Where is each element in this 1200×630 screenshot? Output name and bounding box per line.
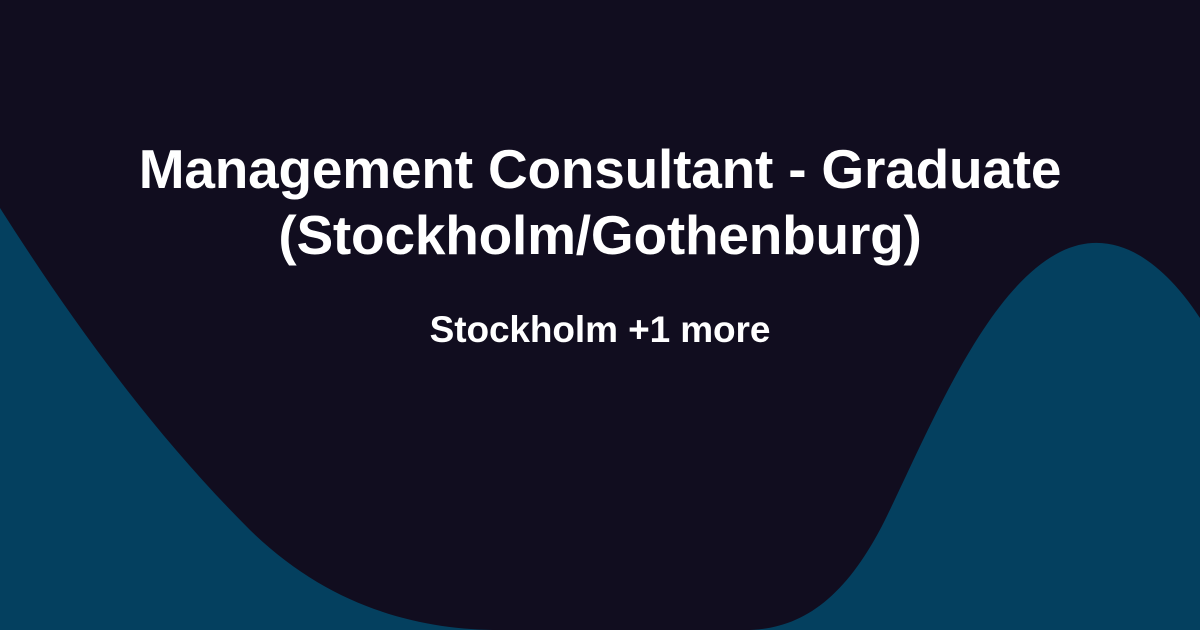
page-title: Management Consultant - Graduate (Stockh… [110,136,1090,268]
card-content: Management Consultant - Graduate (Stockh… [0,0,1200,630]
job-share-card: Management Consultant - Graduate (Stockh… [0,0,1200,630]
job-location-label: Stockholm +1 more [110,307,1090,353]
